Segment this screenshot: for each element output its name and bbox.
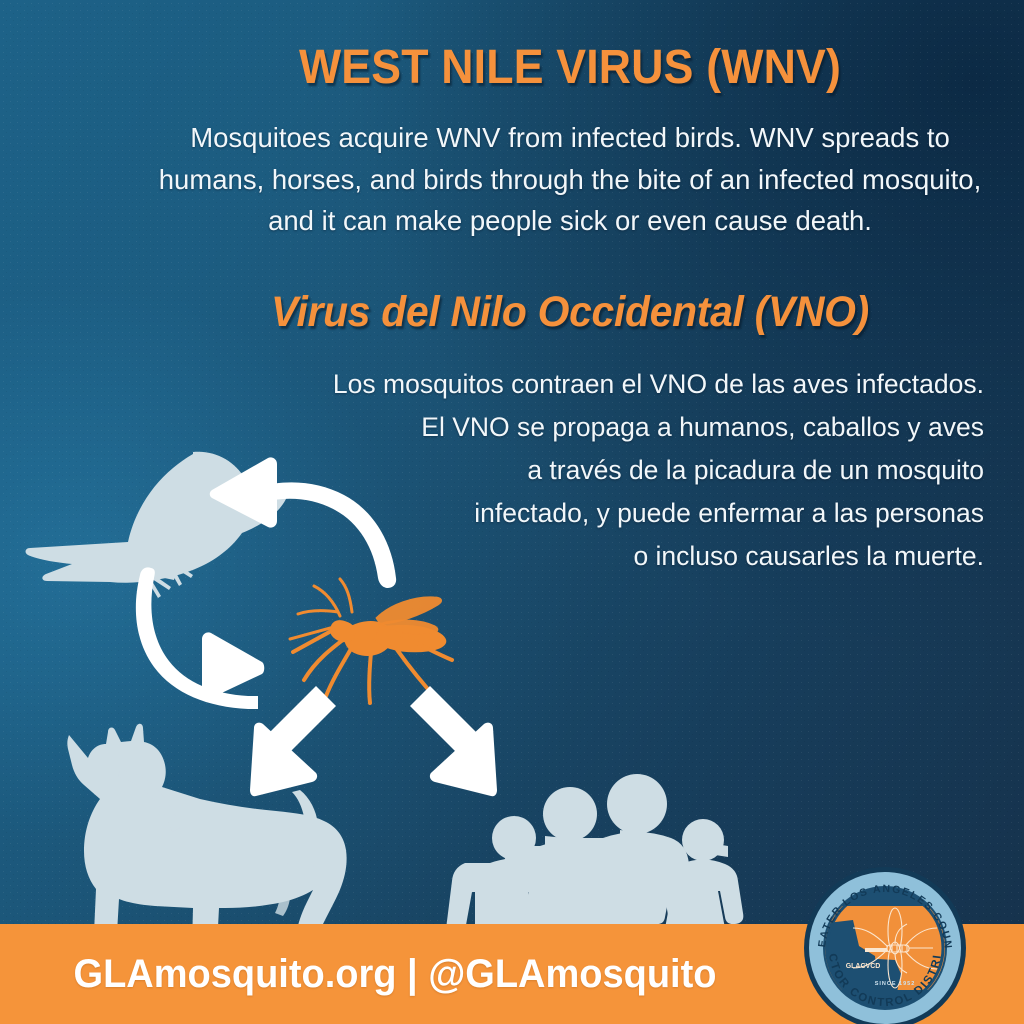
- english-title: WEST NILE VIRUS (WNV): [185, 42, 955, 95]
- spanish-paragraph: Los mosquitos contraen el VNO de las ave…: [156, 363, 984, 578]
- spanish-line-1: Los mosquitos contraen el VNO de las ave…: [156, 363, 984, 406]
- english-paragraph: Mosquitoes acquire WNV from infected bir…: [156, 117, 984, 242]
- logo-abbreviation: GLACVCD: [846, 963, 881, 970]
- logo-since-text: SINCE 1952: [875, 981, 916, 987]
- spanish-line-4: infectado, y puede enfermar a las person…: [156, 492, 984, 535]
- spanish-line-5: o incluso causarles la muerte.: [156, 535, 984, 578]
- glacvcd-logo[interactable]: GLACVCD GREATER LOS ANGELES COUNTY VECTO…: [803, 866, 967, 1024]
- spanish-line-2: El VNO se propaga a humanos, caballos y …: [156, 406, 984, 449]
- content-text-column: WEST NILE VIRUS (WNV) Mosquitoes acquire…: [156, 42, 984, 578]
- spanish-line-3: a través de la picadura de un mosquito: [156, 449, 984, 492]
- infographic-poster: WEST NILE VIRUS (WNV) Mosquitoes acquire…: [0, 0, 1024, 1024]
- spanish-title: Virus del Nilo Occidental (VNO): [177, 288, 964, 337]
- footer-website-handle[interactable]: GLAmosquito.org | @GLAmosquito: [20, 924, 771, 1024]
